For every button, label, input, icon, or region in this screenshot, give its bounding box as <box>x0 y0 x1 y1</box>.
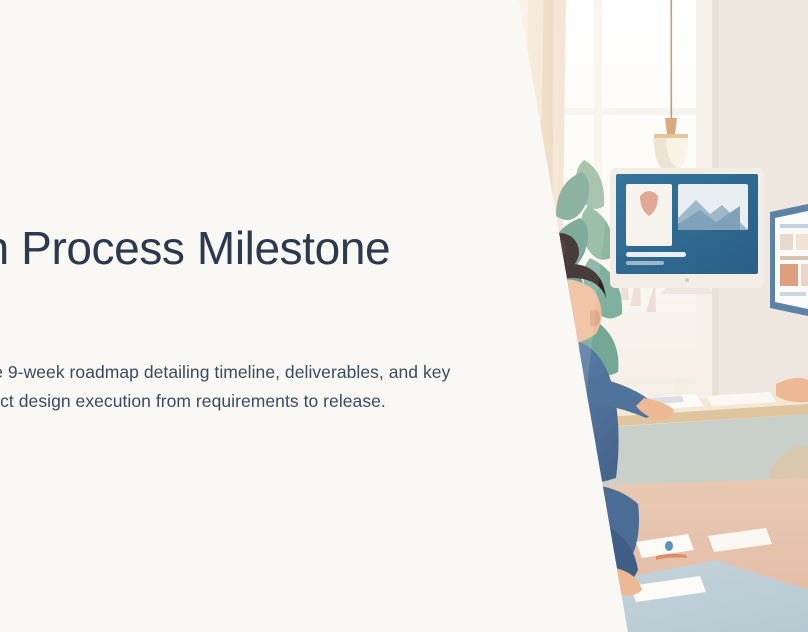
designer-at-desk-illustration <box>470 0 808 632</box>
second-monitor <box>770 204 808 316</box>
text-column: Design Process Milestone A comprehensive… <box>0 0 488 632</box>
presentation-slide: Design Process Milestone A comprehensive… <box>0 0 808 632</box>
office-chair <box>470 391 600 608</box>
page-subtitle: A comprehensive 9-week roadmap detailing… <box>0 358 468 416</box>
illustration-panel <box>470 0 808 632</box>
main-monitor <box>610 168 764 294</box>
page-title: Design Process Milestone <box>0 220 488 276</box>
chair-base <box>470 539 600 608</box>
